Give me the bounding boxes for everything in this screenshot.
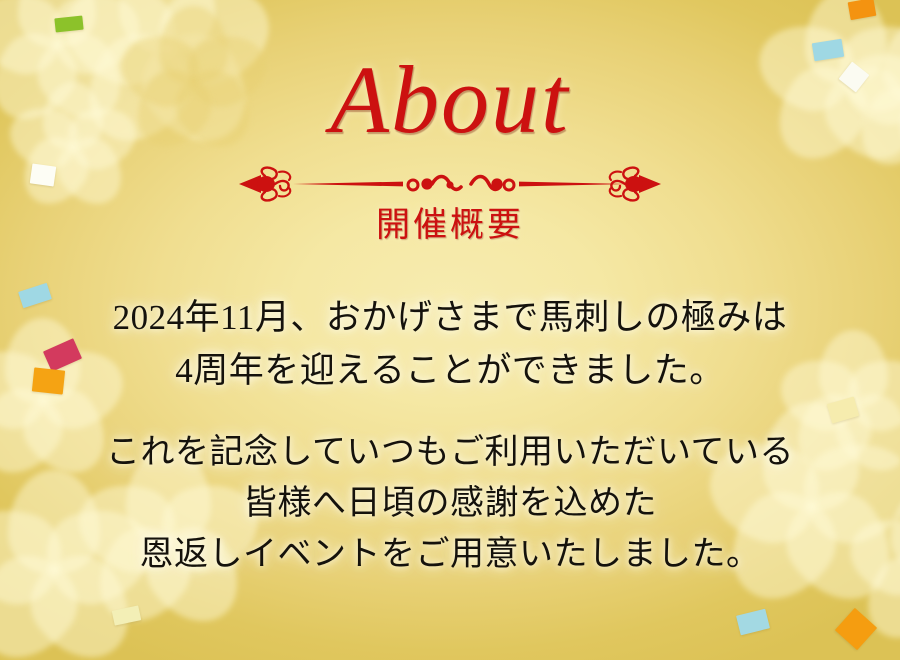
ornamental-divider	[235, 164, 665, 204]
body-line: 2024年11月、おかげさまで馬刺しの極みは	[113, 291, 788, 344]
body-line: 皆様へ日頃の感謝を込めた	[106, 478, 794, 529]
body-line: 恩返しイベントをご用意いたしました。	[106, 529, 794, 580]
body-line: これを記念していつもご利用いただいている	[106, 427, 794, 478]
body-line: 4周年を迎えることができました。	[113, 344, 788, 397]
body-paragraph: これを記念していつもご利用いただいている皆様へ日頃の感謝を込めた恩返しイベントを…	[106, 427, 794, 580]
body-paragraph: 2024年11月、おかげさまで馬刺しの極みは4周年を迎えることができました。	[113, 291, 788, 397]
body-text: 2024年11月、おかげさまで馬刺しの極みは4周年を迎えることができました。これ…	[106, 291, 794, 580]
page-title: About	[330, 0, 569, 148]
about-section: About	[0, 0, 900, 660]
section-subtitle: 開催概要	[376, 206, 524, 247]
